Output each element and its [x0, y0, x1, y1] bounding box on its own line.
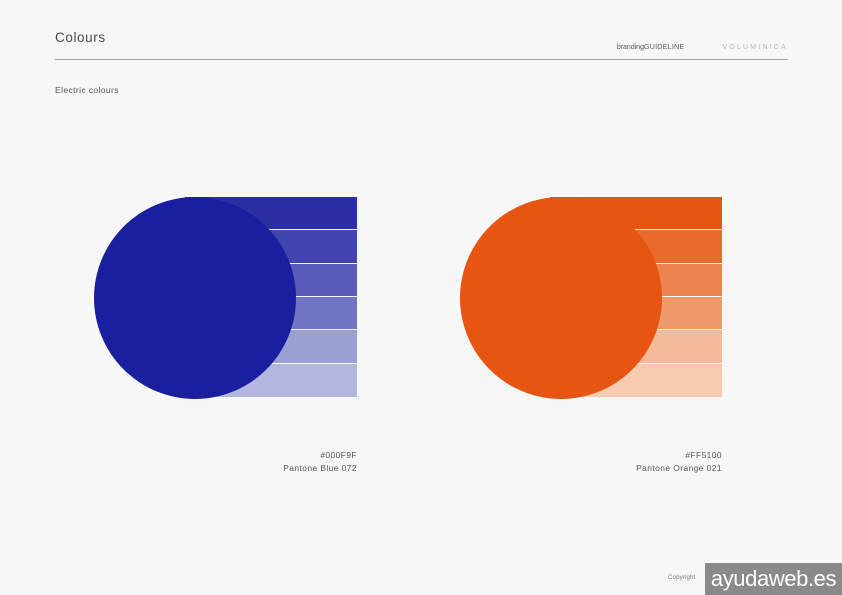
slide-header: Colours brandingGUIDELINE VOLUMINICA	[55, 30, 788, 60]
branding-word: branding	[617, 42, 644, 51]
swatch-caption-blue: #000F9F Pantone Blue 072	[283, 449, 357, 474]
swatch-pantone-orange: Pantone Orange 021	[636, 462, 722, 475]
swatch-hex-blue: #000F9F	[283, 449, 357, 462]
page-title: Colours	[55, 30, 106, 45]
branding-guideline-label: brandingGUIDELINE	[617, 42, 685, 51]
header-meta: brandingGUIDELINE VOLUMINICA	[617, 42, 788, 51]
swatch-pantone-blue: Pantone Blue 072	[283, 462, 357, 475]
watermark-label: ayudaweb.es	[711, 566, 836, 592]
swatch-caption-orange: #FF5100 Pantone Orange 021	[636, 449, 722, 474]
colour-circle-orange	[460, 197, 662, 399]
colour-circle-blue	[94, 197, 296, 399]
swatch-hex-orange: #FF5100	[636, 449, 722, 462]
header-divider	[55, 59, 788, 60]
section-subtitle: Electric colours	[55, 85, 119, 95]
guideline-word: GUIDELINE	[644, 42, 685, 51]
ayudaweb-watermark: ayudaweb.es	[705, 563, 842, 595]
copyright-text: Copyright	[668, 574, 695, 581]
voluminica-logo: VOLUMINICA	[722, 44, 788, 51]
slide-canvas: Colours brandingGUIDELINE VOLUMINICA Ele…	[0, 0, 842, 595]
